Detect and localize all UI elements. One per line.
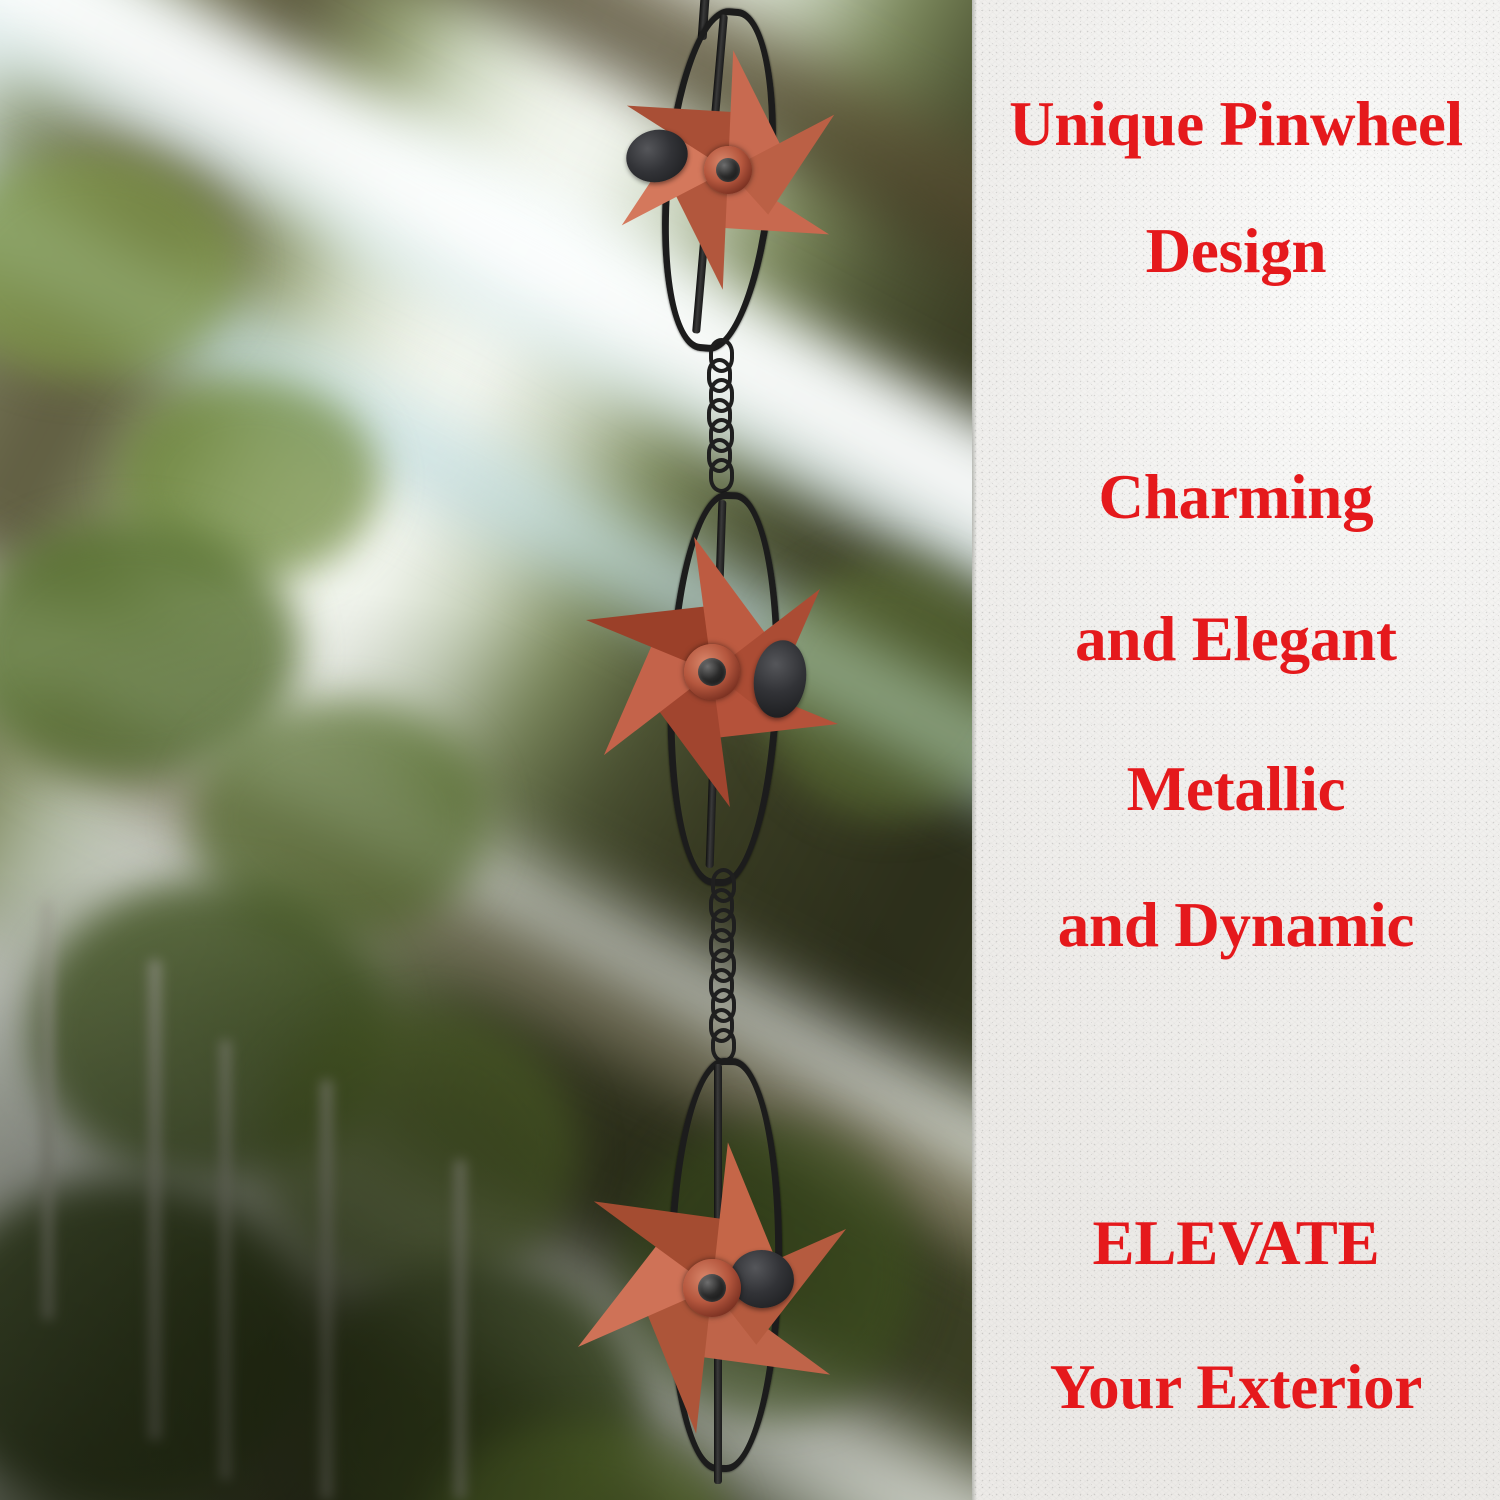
cta-line-2: Your Exterior (972, 1356, 1500, 1419)
cta-line-1: ELEVATE (972, 1212, 1500, 1275)
benefit-line-3: Metallic (972, 758, 1500, 821)
marketing-text-panel: Unique Pinwheel Design Charming and Eleg… (972, 0, 1500, 1500)
product-photo (0, 0, 972, 1500)
benefit-line-4: and Dynamic (972, 894, 1500, 957)
benefit-line-2: and Elegant (972, 608, 1500, 671)
headline-line-2: Design (972, 220, 1500, 283)
headline-line-1: Unique Pinwheel (972, 93, 1500, 156)
benefit-line-1: Charming (972, 466, 1500, 529)
bottom-pinwheel (562, 1138, 862, 1438)
product-feature-image: Unique Pinwheel Design Charming and Eleg… (0, 0, 1500, 1500)
bottom-pinwheel-assembly (0, 0, 972, 1500)
pinwheel-hub-cap (698, 1274, 726, 1302)
